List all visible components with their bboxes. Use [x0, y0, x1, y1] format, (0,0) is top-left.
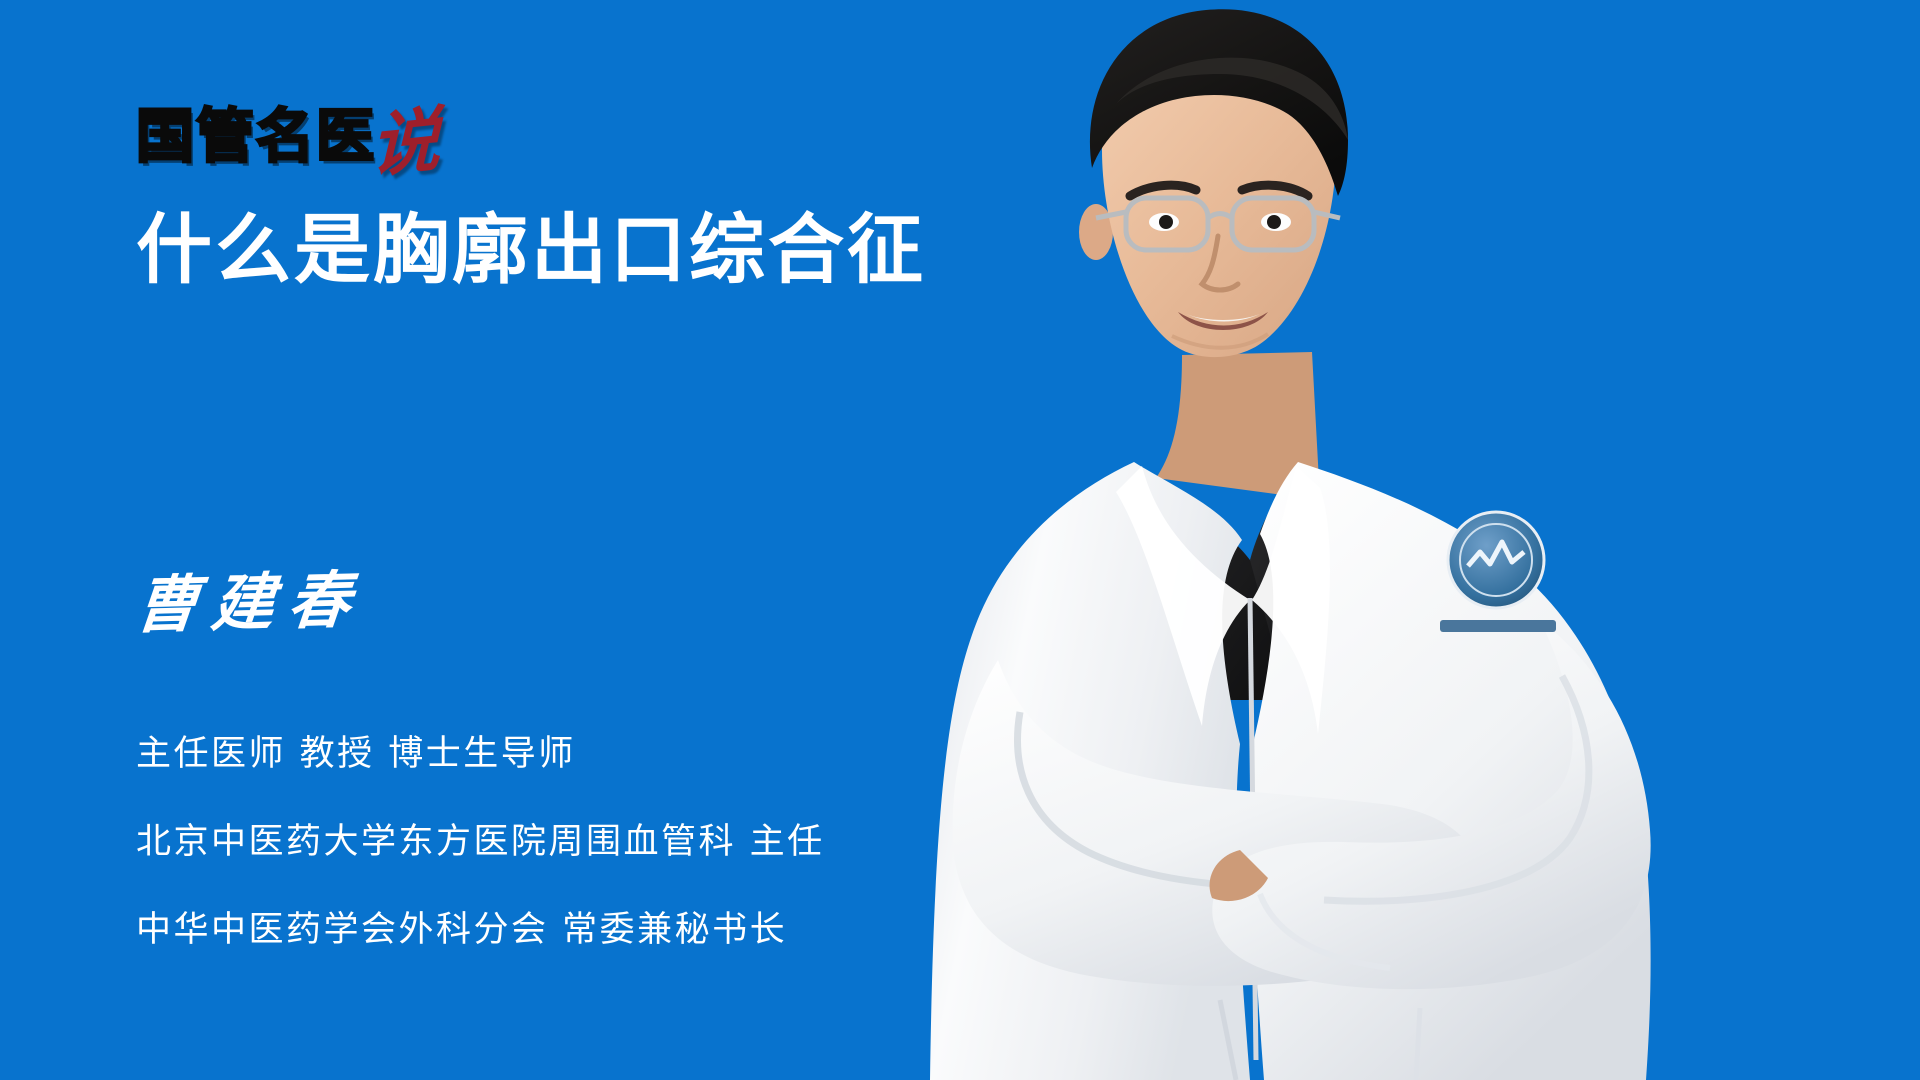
slide-canvas: 国管名医 说 什么是胸廓出口综合征 曹建春 主任医师 教授 博士生导师 北京中医…	[0, 0, 1920, 1080]
page-title: 什么是胸廓出口综合征	[136, 203, 1036, 297]
credential-line: 北京中医药大学东方医院周围血管科 主任	[136, 798, 976, 886]
program-logo: 国管名医 说	[136, 92, 440, 168]
doctor-name: 曹建春	[132, 562, 368, 644]
program-logo-accent-text: 说	[370, 108, 440, 178]
credential-line: 中华中医药学会外科分会 常委兼秘书长	[136, 886, 976, 974]
doctor-credentials: 主任医师 教授 博士生导师 北京中医药大学东方医院周围血管科 主任 中华中医药学…	[136, 710, 976, 974]
hospital-badge-icon	[1440, 512, 1556, 632]
credential-line: 主任医师 教授 博士生导师	[136, 710, 976, 798]
eyeglasses-icon	[1096, 198, 1340, 250]
program-logo-hollow-text: 国管名医	[136, 104, 376, 168]
doctor-portrait-image	[920, 0, 1920, 1080]
